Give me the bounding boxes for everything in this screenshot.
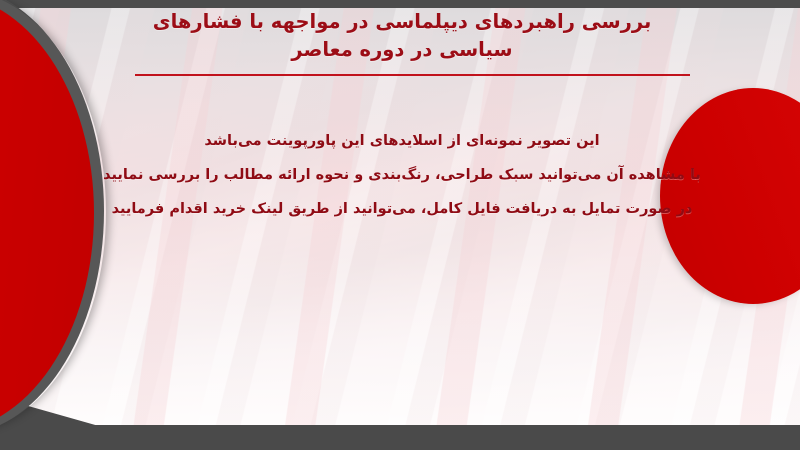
slide-frame-bottom-edge xyxy=(0,430,800,450)
slide-title-line-2: سیاسی در دوره معاصر xyxy=(96,36,708,64)
body-text-line-2: با مشاهده آن می‌توانید سبک طراحی، رنگ‌بن… xyxy=(94,158,710,192)
slide-title: بررسی راهبردهای دیپلماسی در مواجهه با فش… xyxy=(96,8,708,64)
slide-frame-top-edge xyxy=(0,0,800,8)
body-text-line-3: در صورت تمایل به دریافت فایل کامل، می‌تو… xyxy=(94,192,710,226)
body-text-line-1: این تصویر نمونه‌ای از اسلایدهای این پاور… xyxy=(94,124,710,158)
title-underline-rule xyxy=(135,74,690,76)
slide-title-line-1: بررسی راهبردهای دیپلماسی در مواجهه با فش… xyxy=(96,8,708,36)
slide-body-text: این تصویر نمونه‌ای از اسلایدهای این پاور… xyxy=(94,124,710,226)
presentation-slide: بررسی راهبردهای دیپلماسی در مواجهه با فش… xyxy=(0,0,800,450)
